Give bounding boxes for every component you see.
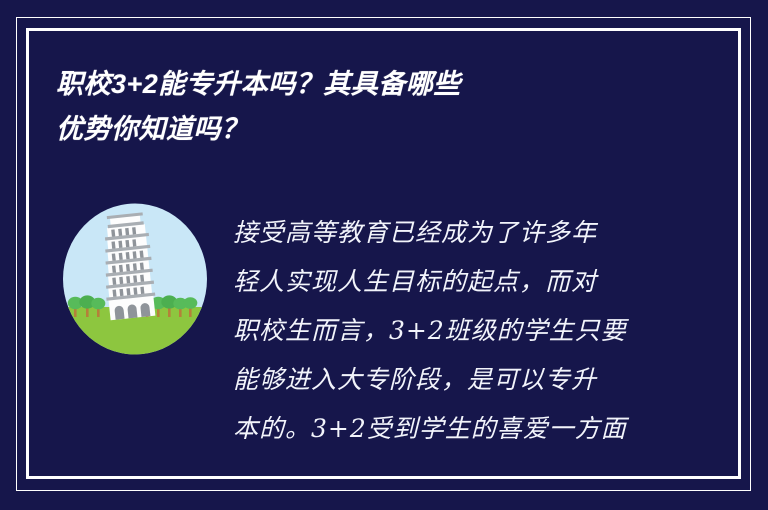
page-title: 职校3+2能专升本吗？其具备哪些 优势你知道吗？ — [56, 62, 696, 152]
body-line-1: 接受高等教育已经成为了许多年 — [233, 208, 663, 257]
illustration-container — [62, 203, 208, 355]
leaning-tower-of-pisa-icon — [62, 203, 208, 355]
body-line-2: 轻人实现人生目标的起点，而对 — [233, 257, 663, 306]
page-title-line-2: 优势你知道吗？ — [56, 107, 696, 152]
body-line-5: 本的。3+2受到学生的喜爱一方面 — [233, 404, 663, 453]
body-line-3: 职校生而言，3+2班级的学生只要 — [233, 306, 663, 355]
body-paragraph: 接受高等教育已经成为了许多年 轻人实现人生目标的起点，而对 职校生而言，3+2班… — [233, 208, 663, 453]
poster-canvas: 职校3+2能专升本吗？其具备哪些 优势你知道吗？ — [0, 0, 768, 510]
body-line-4: 能够进入大专阶段，是可以专升 — [233, 355, 663, 404]
page-title-line-1: 职校3+2能专升本吗？其具备哪些 — [56, 62, 696, 107]
